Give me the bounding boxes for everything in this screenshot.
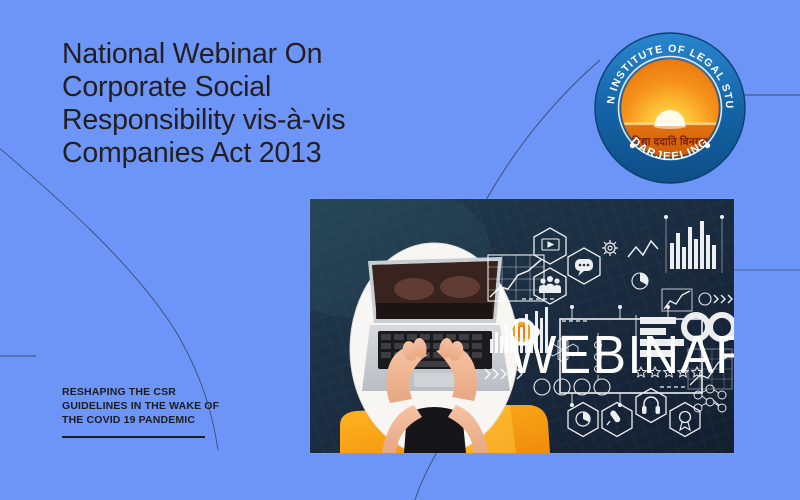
logo-dot-left <box>630 143 635 148</box>
webinar-wordmark: WEBINAR <box>509 325 734 385</box>
webinar-hero-photo: WEBINAR <box>310 199 734 453</box>
page-title-line-2: Corporate Social <box>62 71 462 104</box>
page-title-line-3: Responsibility vis-à-vis <box>62 104 462 137</box>
page-title-line-4: Companies Act 2013 <box>62 137 462 170</box>
institute-logo: विद्या ददाति विनयम् INDIAN INSTITUTE OF … <box>594 32 746 184</box>
page-title-line-1: National Webinar On <box>62 38 462 71</box>
subtitle-block: RESHAPING THE CSR GUIDELINES IN THE WAKE… <box>62 385 222 438</box>
subtitle-divider <box>62 436 205 438</box>
subtitle-text: RESHAPING THE CSR GUIDELINES IN THE WAKE… <box>62 385 222 427</box>
logo-dot-right <box>705 143 710 148</box>
page-title: National Webinar On Corporate Social Res… <box>62 38 462 170</box>
